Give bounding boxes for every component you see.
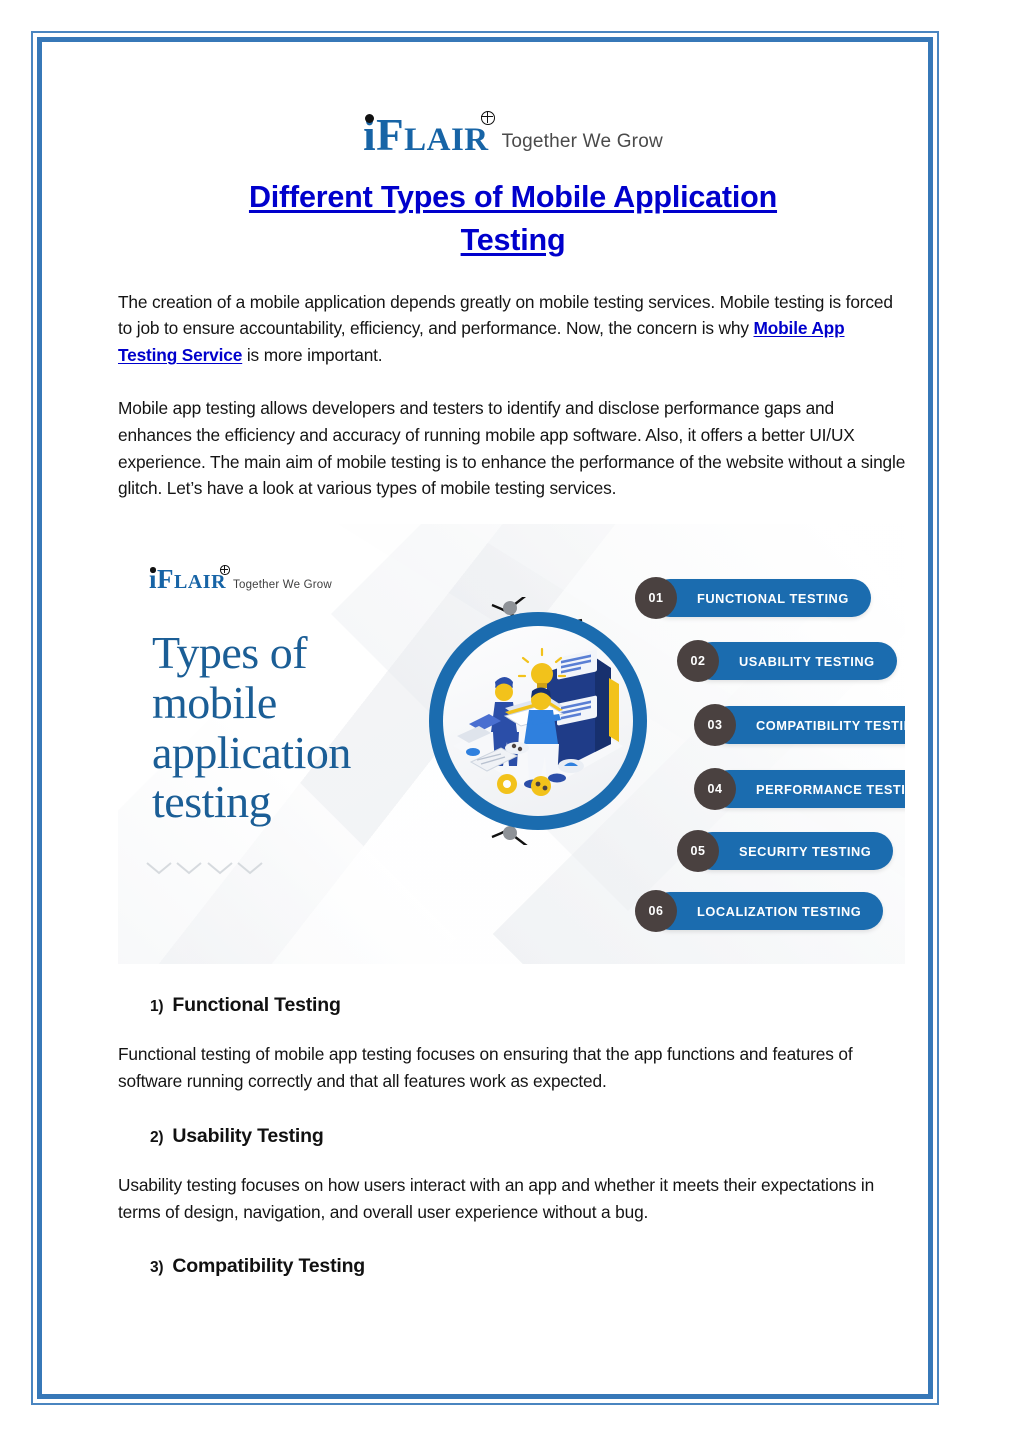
second-paragraph: Mobile app testing allows developers and…: [118, 395, 908, 502]
iflair-wordmark: iFLAIR: [363, 113, 489, 158]
item-number-badge: 06: [635, 890, 677, 932]
types-of-mobile-app-testing-infographic: iFLAIR Together We Grow Types of mobile …: [118, 524, 905, 964]
section-heading-functional-testing: 1)Functional Testing: [150, 994, 908, 1017]
intro-text-after-link: is more important.: [242, 345, 382, 365]
section-title: Compatibility Testing: [172, 1255, 365, 1277]
infographic-item-localization-testing[interactable]: 06 LOCALIZATION TESTING: [651, 892, 883, 930]
section-heading-compatibility-testing: 3)Compatibility Testing: [150, 1255, 908, 1278]
section-body-functional-testing: Functional testing of mobile app testing…: [118, 1041, 908, 1095]
chevron-down-icon: [207, 862, 233, 875]
chevron-down-icon: [146, 862, 172, 875]
page-title: Different Types of Mobile Application Te…: [118, 176, 908, 263]
item-number-badge: 03: [694, 704, 736, 746]
infographic-logo-letter-i: i: [149, 564, 157, 594]
item-number-badge: 04: [694, 768, 736, 810]
page-title-line2: Testing: [461, 223, 566, 257]
logo-letters-lair: LAIR: [404, 122, 489, 158]
globe-icon: [481, 111, 495, 125]
item-label: SECURITY TESTING: [693, 844, 893, 859]
item-label: PERFORMANCE TESTING: [710, 782, 905, 797]
infographic-item-compatibility-testing[interactable]: 03 COMPATIBILITY TESTING: [710, 706, 905, 744]
chevron-down-icon: [176, 862, 202, 875]
infographic-logo-letter-f: F: [157, 564, 174, 594]
intro-paragraph: The creation of a mobile application dep…: [118, 289, 908, 369]
section-title: Functional Testing: [172, 994, 340, 1016]
center-circle-ring: [429, 612, 647, 830]
infographic-item-security-testing[interactable]: 05 SECURITY TESTING: [693, 832, 893, 870]
infographic-logo-tagline: Together We Grow: [233, 579, 332, 593]
infographic-iflair-logo: iFLAIR Together We Grow: [149, 566, 332, 593]
page-title-line1: Different Types of Mobile Application: [249, 180, 777, 214]
infographic-logo-letters-lair: LAIR: [174, 571, 226, 593]
item-number-badge: 01: [635, 577, 677, 619]
mobile-testing-illustration-icon: [443, 626, 633, 816]
infographic-item-functional-testing[interactable]: 01 FUNCTIONAL TESTING: [651, 579, 871, 617]
section-body-usability-testing: Usability testing focuses on how users i…: [118, 1172, 908, 1226]
section-title: Usability Testing: [172, 1125, 323, 1147]
item-number-badge: 05: [677, 830, 719, 872]
item-label: LOCALIZATION TESTING: [651, 904, 883, 919]
infographic-logo-dot-icon: [150, 567, 156, 573]
center-illustration: [443, 626, 633, 816]
logo-letter-i: i: [363, 110, 376, 160]
item-label: FUNCTIONAL TESTING: [651, 591, 871, 606]
item-label: USABILITY TESTING: [693, 654, 897, 669]
infographic-item-performance-testing[interactable]: 04 PERFORMANCE TESTING: [710, 770, 905, 808]
item-number-badge: 02: [677, 640, 719, 682]
infographic-item-usability-testing[interactable]: 02 USABILITY TESTING: [693, 642, 897, 680]
chevron-arrow-group: [146, 862, 263, 885]
infographic-globe-icon: [220, 565, 230, 575]
section-number: 1): [150, 998, 163, 1015]
document-content: iFLAIR Together We Grow Different Types …: [118, 96, 908, 1278]
logo-tagline: Together We Grow: [502, 131, 663, 158]
item-label: COMPATIBILITY TESTING: [710, 718, 905, 733]
infographic-logo-wordmark: iFLAIR: [149, 566, 226, 593]
logo-letter-f: F: [376, 110, 404, 160]
section-heading-usability-testing: 2)Usability Testing: [150, 1125, 908, 1148]
iflair-logo: iFLAIR Together We Grow: [118, 96, 908, 158]
section-number: 3): [150, 1259, 163, 1276]
chevron-down-icon: [237, 862, 263, 875]
section-number: 2): [150, 1129, 163, 1146]
